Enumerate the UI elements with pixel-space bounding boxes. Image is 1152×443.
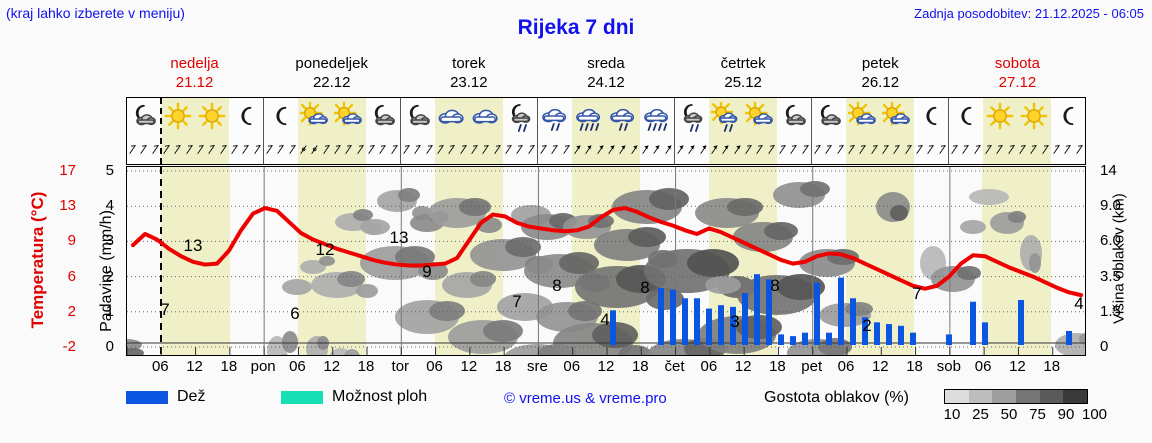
day-date: 21.12	[126, 73, 263, 92]
wind-barb-icon	[240, 136, 251, 162]
weather-cell-5-3	[914, 98, 948, 164]
wind-barb-group	[332, 134, 366, 164]
wind-barb-icon	[846, 136, 857, 162]
rain-bar	[610, 310, 616, 345]
cloud-ramp-step-5	[1063, 390, 1087, 403]
cloud-rain-icon	[538, 100, 572, 134]
temp-label: 6	[290, 304, 299, 323]
wind-barb-group	[880, 134, 914, 164]
wind-barb-icon	[732, 136, 743, 162]
symbol-day-4	[675, 98, 812, 164]
wind-barb-group	[812, 134, 846, 164]
x-label-15: čet	[665, 358, 685, 375]
now-marker-top	[160, 98, 162, 164]
weather-cell-6-2	[1017, 98, 1051, 164]
wind-barb-icon	[857, 136, 868, 162]
day-header-6: sobota27.12	[949, 54, 1086, 94]
wind-barb-icon	[1040, 136, 1051, 162]
wind-barb-icon	[617, 136, 628, 162]
cloud-icon	[469, 100, 503, 134]
wind-barb-group	[298, 134, 332, 164]
x-label-8: 06	[426, 358, 443, 375]
temp-label: 7	[512, 292, 521, 311]
weather-cell-6-1	[983, 98, 1017, 164]
temp-label: 4	[600, 310, 609, 329]
weather-cell-1-0	[264, 98, 298, 164]
cloud-tick-2: 6.0	[1100, 233, 1144, 248]
wind-barb-group	[914, 134, 948, 164]
sun-rain-icon	[709, 100, 743, 134]
rain-bar	[682, 298, 688, 345]
wind-barb-icon	[366, 136, 377, 162]
x-label-17: 12	[735, 358, 752, 375]
weather-cell-4-0	[675, 98, 709, 164]
weather-cell-1-3	[366, 98, 400, 164]
cloud-ramp-label-1: 25	[972, 406, 989, 423]
x-label-5: 12	[323, 358, 340, 375]
wind-barb-group	[435, 134, 469, 164]
moon-rain-icon	[675, 100, 709, 134]
wind-barb-icon	[937, 136, 948, 162]
weather-cell-1-1	[298, 98, 332, 164]
day-name: četrtek	[675, 54, 812, 73]
wind-barb-icon	[572, 136, 583, 162]
wind-barb-group	[503, 134, 537, 164]
wind-barb-icon	[651, 136, 662, 162]
wind-barb-icon	[777, 136, 788, 162]
legend-showers-label: Možnost ploh	[332, 388, 427, 406]
temp-label: 2	[862, 316, 871, 335]
temp-label: 13	[184, 236, 203, 255]
moon-rain-icon	[503, 100, 537, 134]
wind-barb-icon	[538, 136, 549, 162]
rain-bar	[778, 334, 784, 345]
weather-symbol-panel	[126, 97, 1086, 165]
wind-barb-icon	[469, 136, 480, 162]
rain-bar	[754, 274, 760, 345]
rain-bar	[982, 322, 988, 345]
wind-barb-icon	[218, 136, 229, 162]
wind-barb-icon	[252, 136, 263, 162]
wind-barb-icon	[1028, 136, 1039, 162]
cloud-density-title: Gostota oblakov (%)	[764, 389, 909, 407]
wind-barb-group	[1051, 134, 1085, 164]
cloud-ramp-label-5: 100	[1082, 406, 1107, 423]
rain-bar	[790, 336, 796, 345]
x-label-25: 12	[1009, 358, 1026, 375]
sun-icon	[983, 100, 1017, 134]
wind-barb-icon	[1074, 136, 1085, 162]
moon-icon	[1051, 100, 1085, 134]
cloud-ramp-step-0	[945, 390, 969, 403]
wind-barb-icon	[309, 136, 320, 162]
moon-icon	[264, 100, 298, 134]
day-name: sreda	[537, 54, 674, 73]
day-name: sobota	[949, 54, 1086, 73]
wind-barb-icon	[766, 136, 777, 162]
weather-cell-4-1	[709, 98, 743, 164]
rain-bar	[742, 293, 748, 345]
cloud-ramp-step-2	[992, 390, 1016, 403]
symbol-day-5	[812, 98, 949, 164]
temp-label: 13	[390, 228, 409, 247]
wind-barb-icon	[332, 136, 343, 162]
wind-barb-icon	[264, 136, 275, 162]
sun-cloud-icon	[880, 100, 914, 134]
wind-barb-icon	[389, 136, 400, 162]
wind-barb-icon	[526, 136, 537, 162]
rain-bar	[706, 309, 712, 345]
wind-barb-icon	[983, 136, 994, 162]
wind-barb-icon	[880, 136, 891, 162]
rain-bar	[814, 283, 820, 345]
wind-barb-icon	[458, 136, 469, 162]
plot-graphics: 713612913784838274	[127, 167, 1086, 356]
wind-barb-group	[606, 134, 640, 164]
moon-cloud-icon	[812, 100, 846, 134]
weather-cell-3-1	[572, 98, 606, 164]
wind-barb-icon	[424, 136, 435, 162]
weather-cell-0-0	[127, 98, 161, 164]
cloud-ramp-label-0: 10	[944, 406, 961, 423]
symbol-day-1	[264, 98, 401, 164]
x-label-3: pon	[251, 358, 276, 375]
wind-barb-icon	[949, 136, 960, 162]
rain-bar	[1066, 331, 1072, 345]
weather-cell-0-3	[229, 98, 263, 164]
rain-bar	[802, 333, 808, 345]
prec-tick-3: 2	[80, 269, 114, 284]
wind-barb-icon	[743, 136, 754, 162]
cloud-density-tick-labels: 1025507590100	[938, 406, 1100, 424]
sun-cloud-icon	[332, 100, 366, 134]
day-header-4: četrtek25.12	[675, 54, 812, 94]
legend-rain: Dež	[126, 388, 205, 406]
cloud-tick-4: 1.5	[1100, 304, 1144, 319]
temp-tick-5: -2	[42, 339, 76, 354]
wind-barb-icon	[343, 136, 354, 162]
wind-barb-icon	[606, 136, 617, 162]
wind-barb-icon	[698, 136, 709, 162]
rain-bar	[718, 305, 724, 345]
rain-bar	[1018, 300, 1024, 345]
wind-barb-icon	[138, 136, 149, 162]
x-label-19: pet	[801, 358, 822, 375]
wind-barb-group	[777, 134, 811, 164]
day-name: nedelja	[126, 54, 263, 73]
x-label-16: 06	[701, 358, 718, 375]
cloud-icon	[435, 100, 469, 134]
cloud-ramp-label-3: 75	[1029, 406, 1046, 423]
temp-label: 7	[160, 300, 169, 319]
weather-cell-5-0	[812, 98, 846, 164]
wind-barb-icon	[595, 136, 606, 162]
weather-cell-5-1	[846, 98, 880, 164]
wind-barb-icon	[663, 136, 674, 162]
wind-barb-icon	[914, 136, 925, 162]
rain-bar	[898, 326, 904, 345]
day-name: petek	[812, 54, 949, 73]
weather-cell-2-1	[435, 98, 469, 164]
wind-barb-group	[1017, 134, 1051, 164]
weather-cell-2-2	[469, 98, 503, 164]
x-label-11: sre	[527, 358, 548, 375]
rain-bar	[850, 298, 856, 345]
day-header-2: torek23.12	[400, 54, 537, 94]
wind-barb-icon	[903, 136, 914, 162]
meteogram-page: (kraj lahko izberete v meniju) Rijeka 7 …	[0, 0, 1152, 443]
sun-cloud-icon	[846, 100, 880, 134]
wind-barb-group	[846, 134, 880, 164]
wind-barb-icon	[161, 136, 172, 162]
symbol-day-3	[538, 98, 675, 164]
wind-barb-icon	[869, 136, 880, 162]
weather-cell-3-3	[640, 98, 674, 164]
rain-bar	[670, 290, 676, 345]
x-label-7: tor	[392, 358, 410, 375]
temp-label: 3	[730, 312, 739, 331]
x-label-26: 18	[1043, 358, 1060, 375]
x-label-20: 06	[838, 358, 855, 375]
wind-barb-icon	[960, 136, 971, 162]
cloud-rain-icon	[606, 100, 640, 134]
weather-cell-0-1	[161, 98, 195, 164]
weather-cell-1-2	[332, 98, 366, 164]
wind-barb-group	[401, 134, 435, 164]
cloud-rain-heavy-icon	[640, 100, 674, 134]
moon-cloud-icon	[127, 100, 161, 134]
rain-swatch	[126, 391, 168, 404]
showers-swatch	[281, 391, 323, 404]
x-axis-labels: 061218pon061218tor061218sre061218čet0612…	[126, 358, 1086, 378]
symbol-day-2	[401, 98, 538, 164]
wind-barb-group	[675, 134, 709, 164]
copyright-link[interactable]: © vreme.us & vreme.pro	[504, 390, 667, 407]
wind-barb-icon	[891, 136, 902, 162]
wind-barb-group	[161, 134, 195, 164]
day-date: 27.12	[949, 73, 1086, 92]
prec-tick-2: 3	[80, 233, 114, 248]
sun-cloud-icon	[743, 100, 777, 134]
wind-barb-icon	[925, 136, 936, 162]
weather-cell-3-2	[606, 98, 640, 164]
wind-barb-icon	[195, 136, 206, 162]
x-label-9: 12	[461, 358, 478, 375]
wind-barb-icon	[561, 136, 572, 162]
weather-cell-3-0	[538, 98, 572, 164]
day-header-3: sreda24.12	[537, 54, 674, 94]
wind-barb-icon	[492, 136, 503, 162]
day-date: 24.12	[537, 73, 674, 92]
cloud-ramp-step-3	[1016, 390, 1040, 403]
day-header-0: nedelja21.12	[126, 54, 263, 94]
wind-barb-icon	[788, 136, 799, 162]
rain-bar	[838, 278, 844, 345]
temp-label: 8	[770, 276, 779, 295]
wind-barb-group	[229, 134, 263, 164]
wind-barb-group	[127, 134, 161, 164]
sun-icon	[195, 100, 229, 134]
weather-cell-2-3	[503, 98, 537, 164]
cloud-tick-1: 9.0	[1100, 198, 1144, 213]
moon-cloud-icon	[401, 100, 435, 134]
weather-cell-6-0	[949, 98, 983, 164]
wind-barb-group	[983, 134, 1017, 164]
temp-tick-0: 17	[42, 163, 76, 178]
x-label-18: 18	[769, 358, 786, 375]
cloud-ramp-step-4	[1040, 390, 1064, 403]
day-header-5: petek26.12	[812, 54, 949, 94]
wind-barb-icon	[994, 136, 1005, 162]
legend-rain-label: Dež	[177, 388, 205, 406]
x-label-1: 12	[186, 358, 203, 375]
day-header-1: ponedeljek22.12	[263, 54, 400, 94]
temp-label: 9	[422, 262, 431, 281]
weather-cell-0-2	[195, 98, 229, 164]
x-label-14: 18	[632, 358, 649, 375]
day-date: 26.12	[812, 73, 949, 92]
x-label-23: sob	[937, 358, 961, 375]
day-date: 22.12	[263, 73, 400, 92]
wind-barb-icon	[446, 136, 457, 162]
symbol-day-0	[127, 98, 264, 164]
wind-barb-group	[538, 134, 572, 164]
wind-barb-icon	[229, 136, 240, 162]
prec-tick-4: 1	[80, 304, 114, 319]
cloud-density-field	[127, 181, 1086, 356]
day-date: 25.12	[675, 73, 812, 92]
wind-barb-icon	[583, 136, 594, 162]
wind-barb-icon	[287, 136, 298, 162]
wind-barb-icon	[298, 136, 309, 162]
rain-bar	[658, 288, 664, 345]
weather-cell-2-0	[401, 98, 435, 164]
legend-showers: Možnost ploh	[281, 388, 427, 406]
wind-barb-icon	[127, 136, 138, 162]
x-label-10: 18	[495, 358, 512, 375]
wind-barb-group	[709, 134, 743, 164]
cloud-density-ramp	[944, 389, 1088, 404]
wind-barb-icon	[377, 136, 388, 162]
symbol-day-6	[949, 98, 1085, 164]
wind-barb-icon	[172, 136, 183, 162]
x-label-12: 06	[563, 358, 580, 375]
day-name: torek	[400, 54, 537, 73]
cloud-ramp-label-4: 90	[1058, 406, 1075, 423]
wind-barb-icon	[709, 136, 720, 162]
wind-barb-icon	[412, 136, 423, 162]
rain-bar	[946, 334, 952, 345]
x-label-22: 18	[906, 358, 923, 375]
wind-barb-icon	[514, 136, 525, 162]
rain-bar	[874, 322, 880, 345]
temp-tick-1: 13	[42, 198, 76, 213]
moon-icon	[949, 100, 983, 134]
x-label-2: 18	[221, 358, 238, 375]
temp-label: 4	[1074, 294, 1083, 313]
wind-barb-icon	[823, 136, 834, 162]
wind-barb-group	[640, 134, 674, 164]
x-label-21: 12	[872, 358, 889, 375]
wind-barb-icon	[754, 136, 765, 162]
cloud-ramp-step-1	[969, 390, 993, 403]
temp-tick-2: 9	[42, 233, 76, 248]
temp-tick-3: 6	[42, 269, 76, 284]
wind-barb-icon	[206, 136, 217, 162]
chart-legend: Dež Možnost ploh © vreme.us & vreme.pro …	[126, 386, 1146, 422]
cloud-rain-heavy-icon	[572, 100, 606, 134]
x-label-24: 06	[975, 358, 992, 375]
wind-barb-icon	[629, 136, 640, 162]
moon-icon	[229, 100, 263, 134]
wind-barb-icon	[401, 136, 412, 162]
day-date: 23.12	[400, 73, 537, 92]
rain-bar	[826, 333, 832, 345]
wind-barb-icon	[972, 136, 983, 162]
moon-cloud-icon	[777, 100, 811, 134]
rain-bar	[910, 333, 916, 345]
wind-barb-icon	[321, 136, 332, 162]
temp-label: 8	[552, 276, 561, 295]
wind-barb-group	[264, 134, 298, 164]
sun-icon	[1017, 100, 1051, 134]
rain-bar	[970, 302, 976, 345]
meteogram-plot: 713612913784838274	[126, 166, 1086, 356]
x-label-4: 06	[289, 358, 306, 375]
cloud-ramp-label-2: 50	[1001, 406, 1018, 423]
weather-cell-6-3	[1051, 98, 1085, 164]
temp-label: 12	[316, 240, 335, 259]
weather-cell-5-2	[880, 98, 914, 164]
cloud-tick-5: 0	[1100, 339, 1144, 354]
temp-label: 8	[640, 278, 649, 297]
temp-label: 7	[912, 284, 921, 303]
wind-barb-icon	[549, 136, 560, 162]
prec-tick-5: 0	[80, 339, 114, 354]
moon-icon	[914, 100, 948, 134]
last-update-label: Zadnja posodobitev: 21.12.2025 - 06:05	[914, 6, 1144, 21]
cloud-tick-3: 3.5	[1100, 269, 1144, 284]
wind-barb-icon	[1006, 136, 1017, 162]
wind-barb-group	[572, 134, 606, 164]
prec-tick-1: 4	[80, 198, 114, 213]
wind-barb-group	[949, 134, 983, 164]
sun-icon	[161, 100, 195, 134]
wind-barb-group	[469, 134, 503, 164]
wind-barb-icon	[1062, 136, 1073, 162]
wind-barb-icon	[800, 136, 811, 162]
weather-cell-4-3	[777, 98, 811, 164]
wind-barb-icon	[1051, 136, 1062, 162]
cloud-tick-0: 14	[1100, 163, 1144, 178]
day-name: ponedeljek	[263, 54, 400, 73]
wind-barb-group	[195, 134, 229, 164]
wind-barb-icon	[812, 136, 823, 162]
wind-barb-icon	[480, 136, 491, 162]
wind-barb-icon	[355, 136, 366, 162]
moon-cloud-icon	[366, 100, 400, 134]
wind-barb-group	[366, 134, 400, 164]
wind-barb-icon	[720, 136, 731, 162]
temp-tick-4: 2	[42, 304, 76, 319]
wind-barb-icon	[184, 136, 195, 162]
prec-tick-0: 5	[80, 163, 114, 178]
x-label-13: 12	[598, 358, 615, 375]
wind-barb-icon	[435, 136, 446, 162]
rain-bar	[886, 324, 892, 345]
wind-barb-icon	[503, 136, 514, 162]
x-label-6: 18	[358, 358, 375, 375]
